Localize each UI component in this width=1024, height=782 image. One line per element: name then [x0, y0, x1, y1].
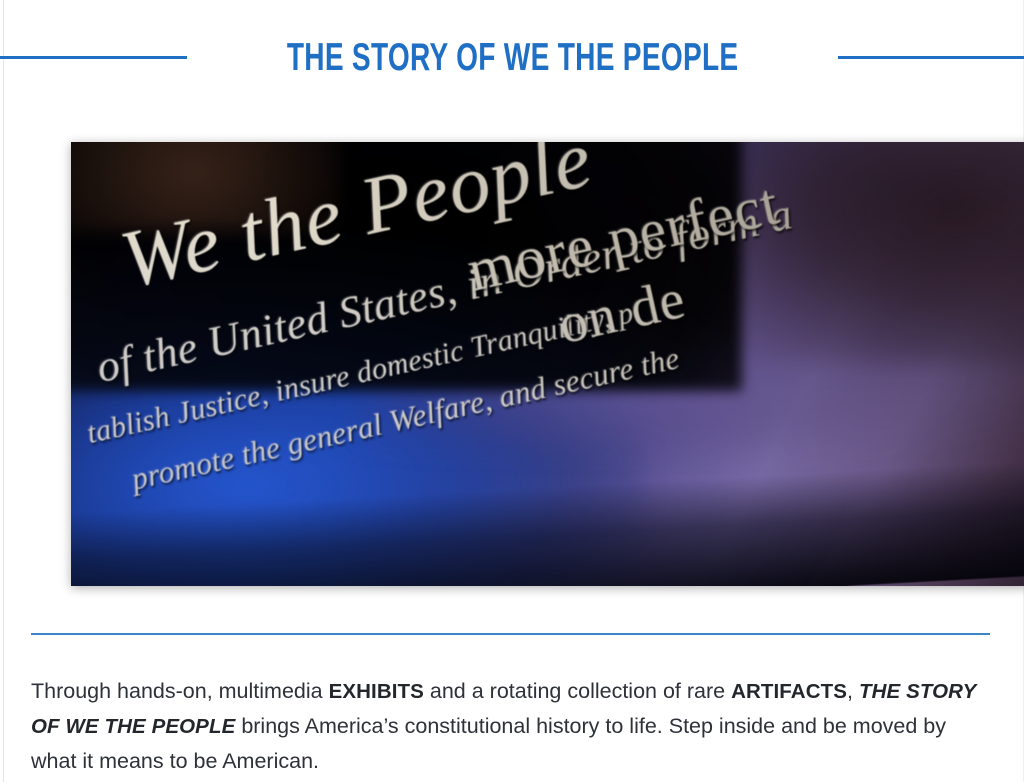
keyword-exhibits: EXHIBITS — [329, 680, 424, 703]
description-text-2: and a rotating collection of rare — [424, 679, 731, 703]
hero-image: We the People of the United States, in O… — [71, 142, 1024, 586]
keyword-artifacts: ARTIFACTS — [731, 680, 847, 703]
description-paragraph: Through hands-on, multimedia EXHIBITS an… — [31, 674, 991, 778]
description-comma: , — [847, 679, 859, 703]
page-title: THE STORY OF WE THE PEOPLE — [287, 38, 739, 77]
page-header: THE STORY OF WE THE PEOPLE — [0, 34, 1024, 80]
header-rule-right — [838, 56, 1024, 59]
content-divider — [31, 633, 990, 635]
header-rule-left — [0, 56, 187, 59]
page-border-left — [3, 0, 4, 782]
description-text-1: Through hands-on, multimedia — [31, 679, 329, 703]
photo-light-overlay — [71, 142, 1024, 586]
constitution-wall-photo: We the People of the United States, in O… — [71, 142, 1024, 586]
